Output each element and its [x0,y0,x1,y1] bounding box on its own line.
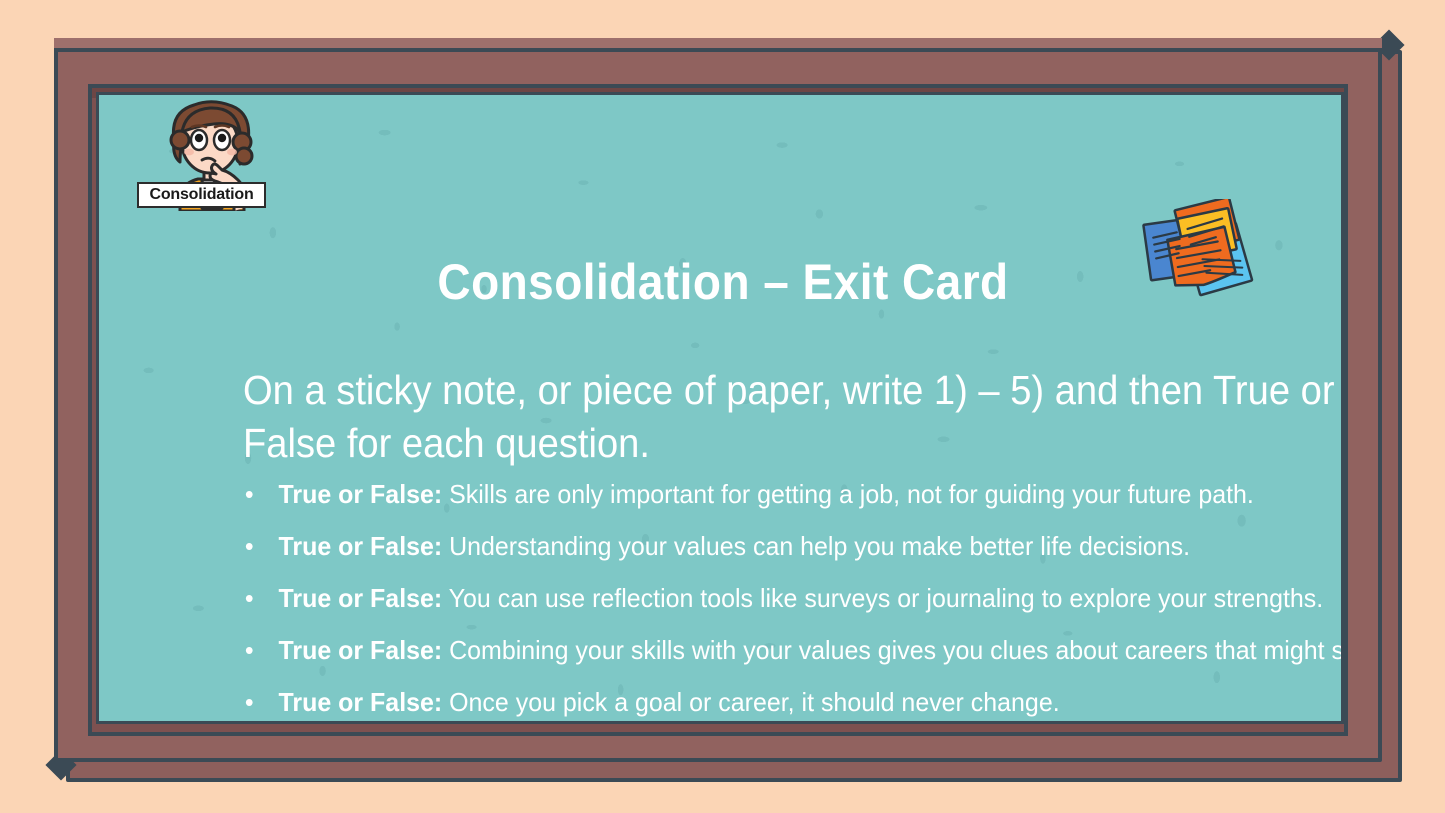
question-lead: True or False: [279,635,443,665]
question-lead: True or False: [279,583,443,613]
frame-bevel-top-edge [54,38,1382,52]
badge-label: Consolidation [137,182,266,208]
question-lead: True or False: [279,531,443,561]
sticky-notes-icon [1135,199,1257,311]
slide-canvas: Consolidation – Exit Card On a sticky no… [0,0,1445,813]
bullet-marker-icon: • [245,629,254,671]
page-title: Consolidation – Exit Card [149,253,1297,311]
question-body: You can use reflection tools like survey… [442,583,1323,613]
question-lead: True or False: [279,479,443,509]
list-item: • True or False: Once you pick a goal or… [243,681,1344,724]
question-body: Once you pick a goal or career, it shoul… [442,687,1059,717]
list-item: • True or False: Understanding your valu… [243,525,1344,577]
list-item: • True or False: You can use reflection … [243,577,1344,629]
question-lead: True or False: [279,687,443,717]
question-body: Understanding your values can help you m… [442,531,1190,561]
question-list: • True or False: Skills are only importa… [243,473,1344,724]
bullet-marker-icon: • [245,577,254,619]
instruction-text: On a sticky note, or piece of paper, wri… [243,364,1340,470]
bullet-marker-icon: • [245,473,254,515]
bullet-marker-icon: • [245,525,254,567]
question-body: Combining your skills with your values g… [442,635,1344,665]
bullet-marker-icon: • [245,681,254,723]
question-body: Skills are only important for getting a … [442,479,1254,509]
chalkboard-surface: Consolidation – Exit Card On a sticky no… [96,92,1344,724]
list-item: • True or False: Skills are only importa… [243,473,1344,525]
list-item: • True or False: Combining your skills w… [243,629,1344,681]
